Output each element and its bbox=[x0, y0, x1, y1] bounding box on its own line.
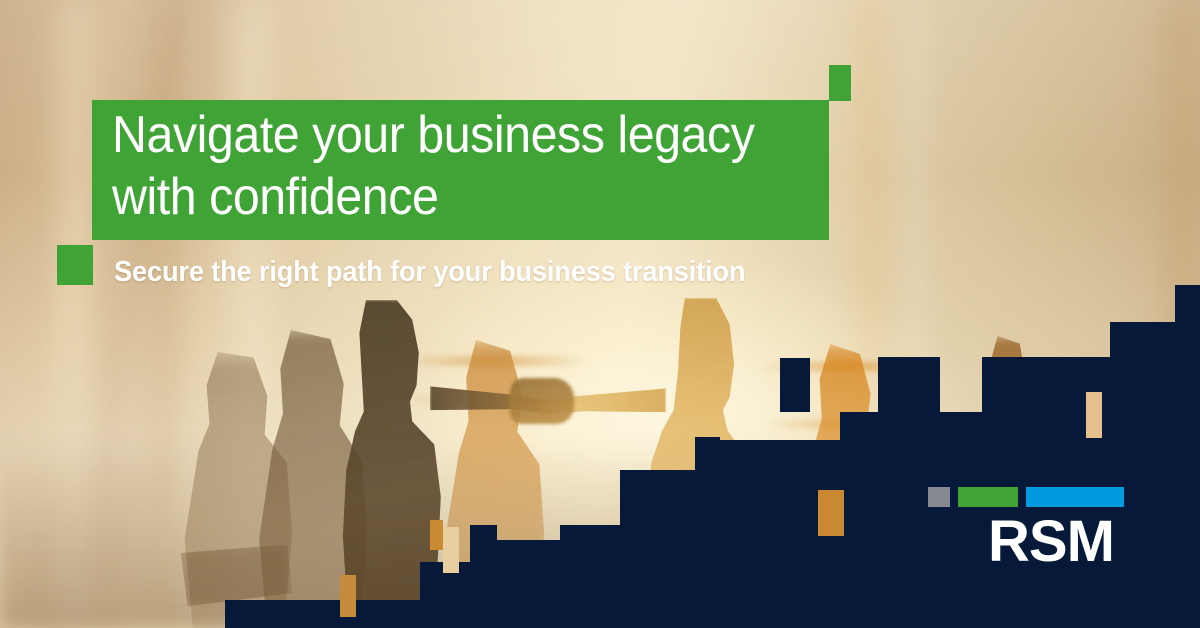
navy-mosaic-block bbox=[1110, 322, 1175, 628]
logo-wordmark: RSM bbox=[988, 513, 1114, 571]
rsm-logo[interactable]: RSM bbox=[928, 487, 1124, 579]
gold-fleck-4 bbox=[340, 575, 356, 617]
navy-mosaic-block bbox=[620, 470, 660, 628]
navy-mosaic-block bbox=[878, 412, 920, 628]
navy-mosaic-block bbox=[720, 440, 780, 628]
navy-mosaic-block bbox=[840, 412, 878, 628]
navy-mosaic-block bbox=[225, 600, 298, 628]
logo-blue-bar bbox=[1026, 487, 1124, 507]
gold-fleck-1 bbox=[1086, 392, 1102, 438]
navy-mosaic-block bbox=[884, 358, 928, 412]
page-subtitle: Secure the right path for your business … bbox=[114, 256, 745, 289]
motion-blur-streak bbox=[400, 356, 590, 366]
navy-mosaic-block bbox=[1175, 285, 1200, 628]
gold-fleck-3 bbox=[818, 490, 844, 536]
rsm-promo-banner: Navigate your business legacy with confi… bbox=[0, 0, 1200, 628]
navy-mosaic-block bbox=[298, 600, 420, 628]
navy-mosaic-block bbox=[695, 437, 720, 628]
logo-green-bar bbox=[958, 487, 1018, 507]
handshake-clasped-hands bbox=[510, 378, 574, 424]
green-accent-square bbox=[57, 245, 93, 285]
gold-fleck-5 bbox=[430, 520, 443, 550]
gold-fleck-2 bbox=[443, 527, 459, 573]
navy-mosaic-block bbox=[470, 525, 497, 628]
navy-mosaic-block bbox=[660, 470, 695, 628]
navy-mosaic-block bbox=[780, 358, 810, 412]
page-title: Navigate your business legacy with confi… bbox=[112, 104, 782, 228]
navy-mosaic-block bbox=[497, 540, 560, 628]
navy-mosaic-block bbox=[560, 525, 620, 628]
green-accent-tab bbox=[829, 65, 851, 101]
logo-gray-bar bbox=[928, 487, 950, 507]
